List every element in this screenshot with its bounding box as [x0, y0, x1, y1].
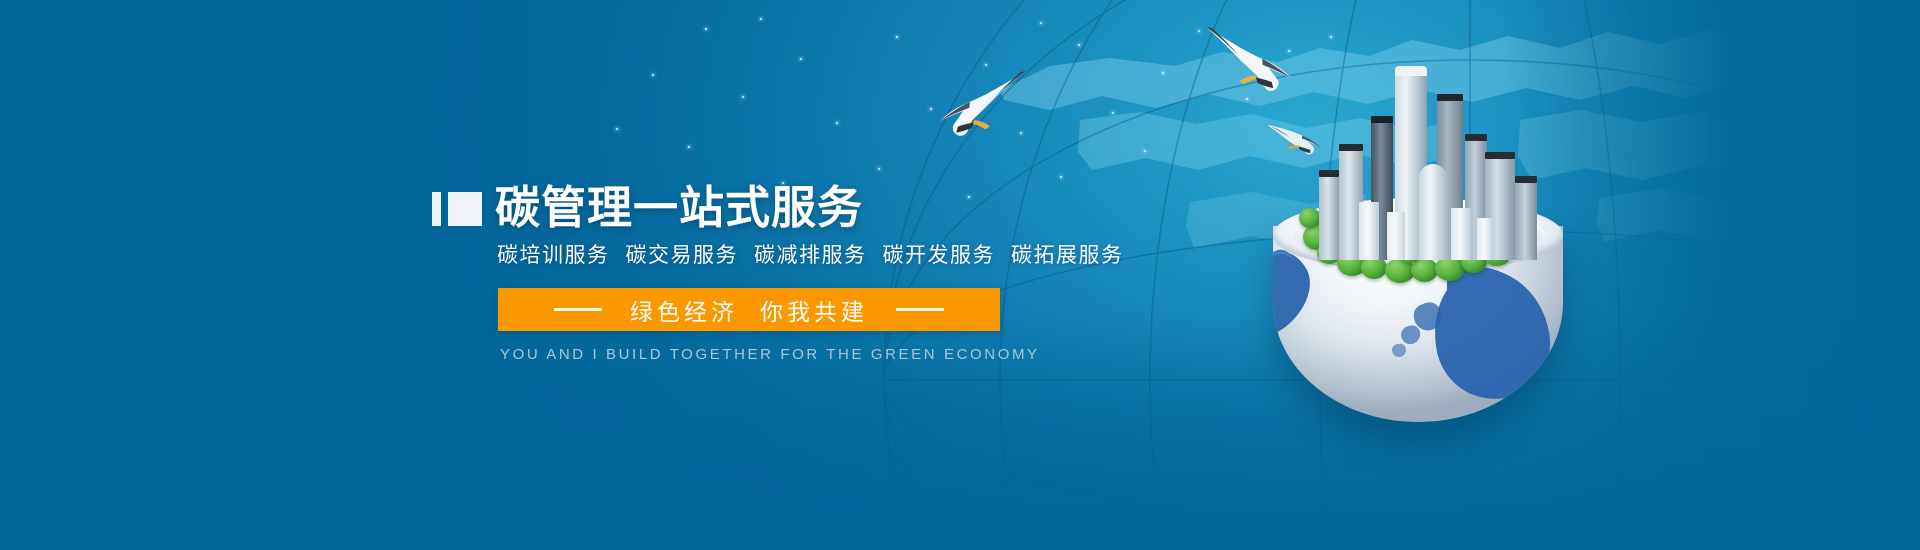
seagull-icon: [937, 55, 1056, 148]
globe-city-artwork: [1255, 48, 1595, 398]
service-item[interactable]: 碳培训服务: [497, 239, 610, 269]
promo-banner: 碳管理一站式服务 碳培训服务 碳交易服务 碳减排服务 碳开发服务 碳拓展服务 绿…: [0, 0, 1920, 550]
slogan-text: 绿色经济 你我共建: [630, 293, 868, 327]
building: [1359, 202, 1379, 260]
slogan-dash-right-icon: [896, 308, 944, 311]
title-accent-marker: [432, 192, 482, 226]
service-item[interactable]: 碳减排服务: [754, 239, 867, 269]
city-skyline: [1299, 60, 1549, 260]
slogan-part-1: 绿色经济: [630, 293, 738, 327]
accent-bar-icon: [432, 192, 441, 226]
building: [1477, 218, 1493, 260]
service-item[interactable]: 碳开发服务: [883, 239, 996, 269]
building: [1451, 208, 1471, 260]
building: [1515, 180, 1537, 260]
building: [1319, 174, 1339, 260]
slogan-banner: 绿色经济 你我共建: [498, 288, 1000, 331]
building: [1387, 212, 1405, 260]
accent-square-icon: [448, 192, 482, 226]
service-item[interactable]: 碳交易服务: [626, 239, 739, 269]
slogan-dash-left-icon: [554, 308, 602, 311]
building: [1419, 164, 1447, 260]
service-list: 碳培训服务 碳交易服务 碳减排服务 碳开发服务 碳拓展服务: [497, 239, 1124, 269]
english-tagline: YOU AND I BUILD TOGETHER FOR THE GREEN E…: [500, 346, 1040, 363]
slogan-part-2: 你我共建: [760, 293, 868, 327]
service-item[interactable]: 碳拓展服务: [1011, 239, 1124, 269]
page-title: 碳管理一站式服务: [495, 182, 863, 234]
